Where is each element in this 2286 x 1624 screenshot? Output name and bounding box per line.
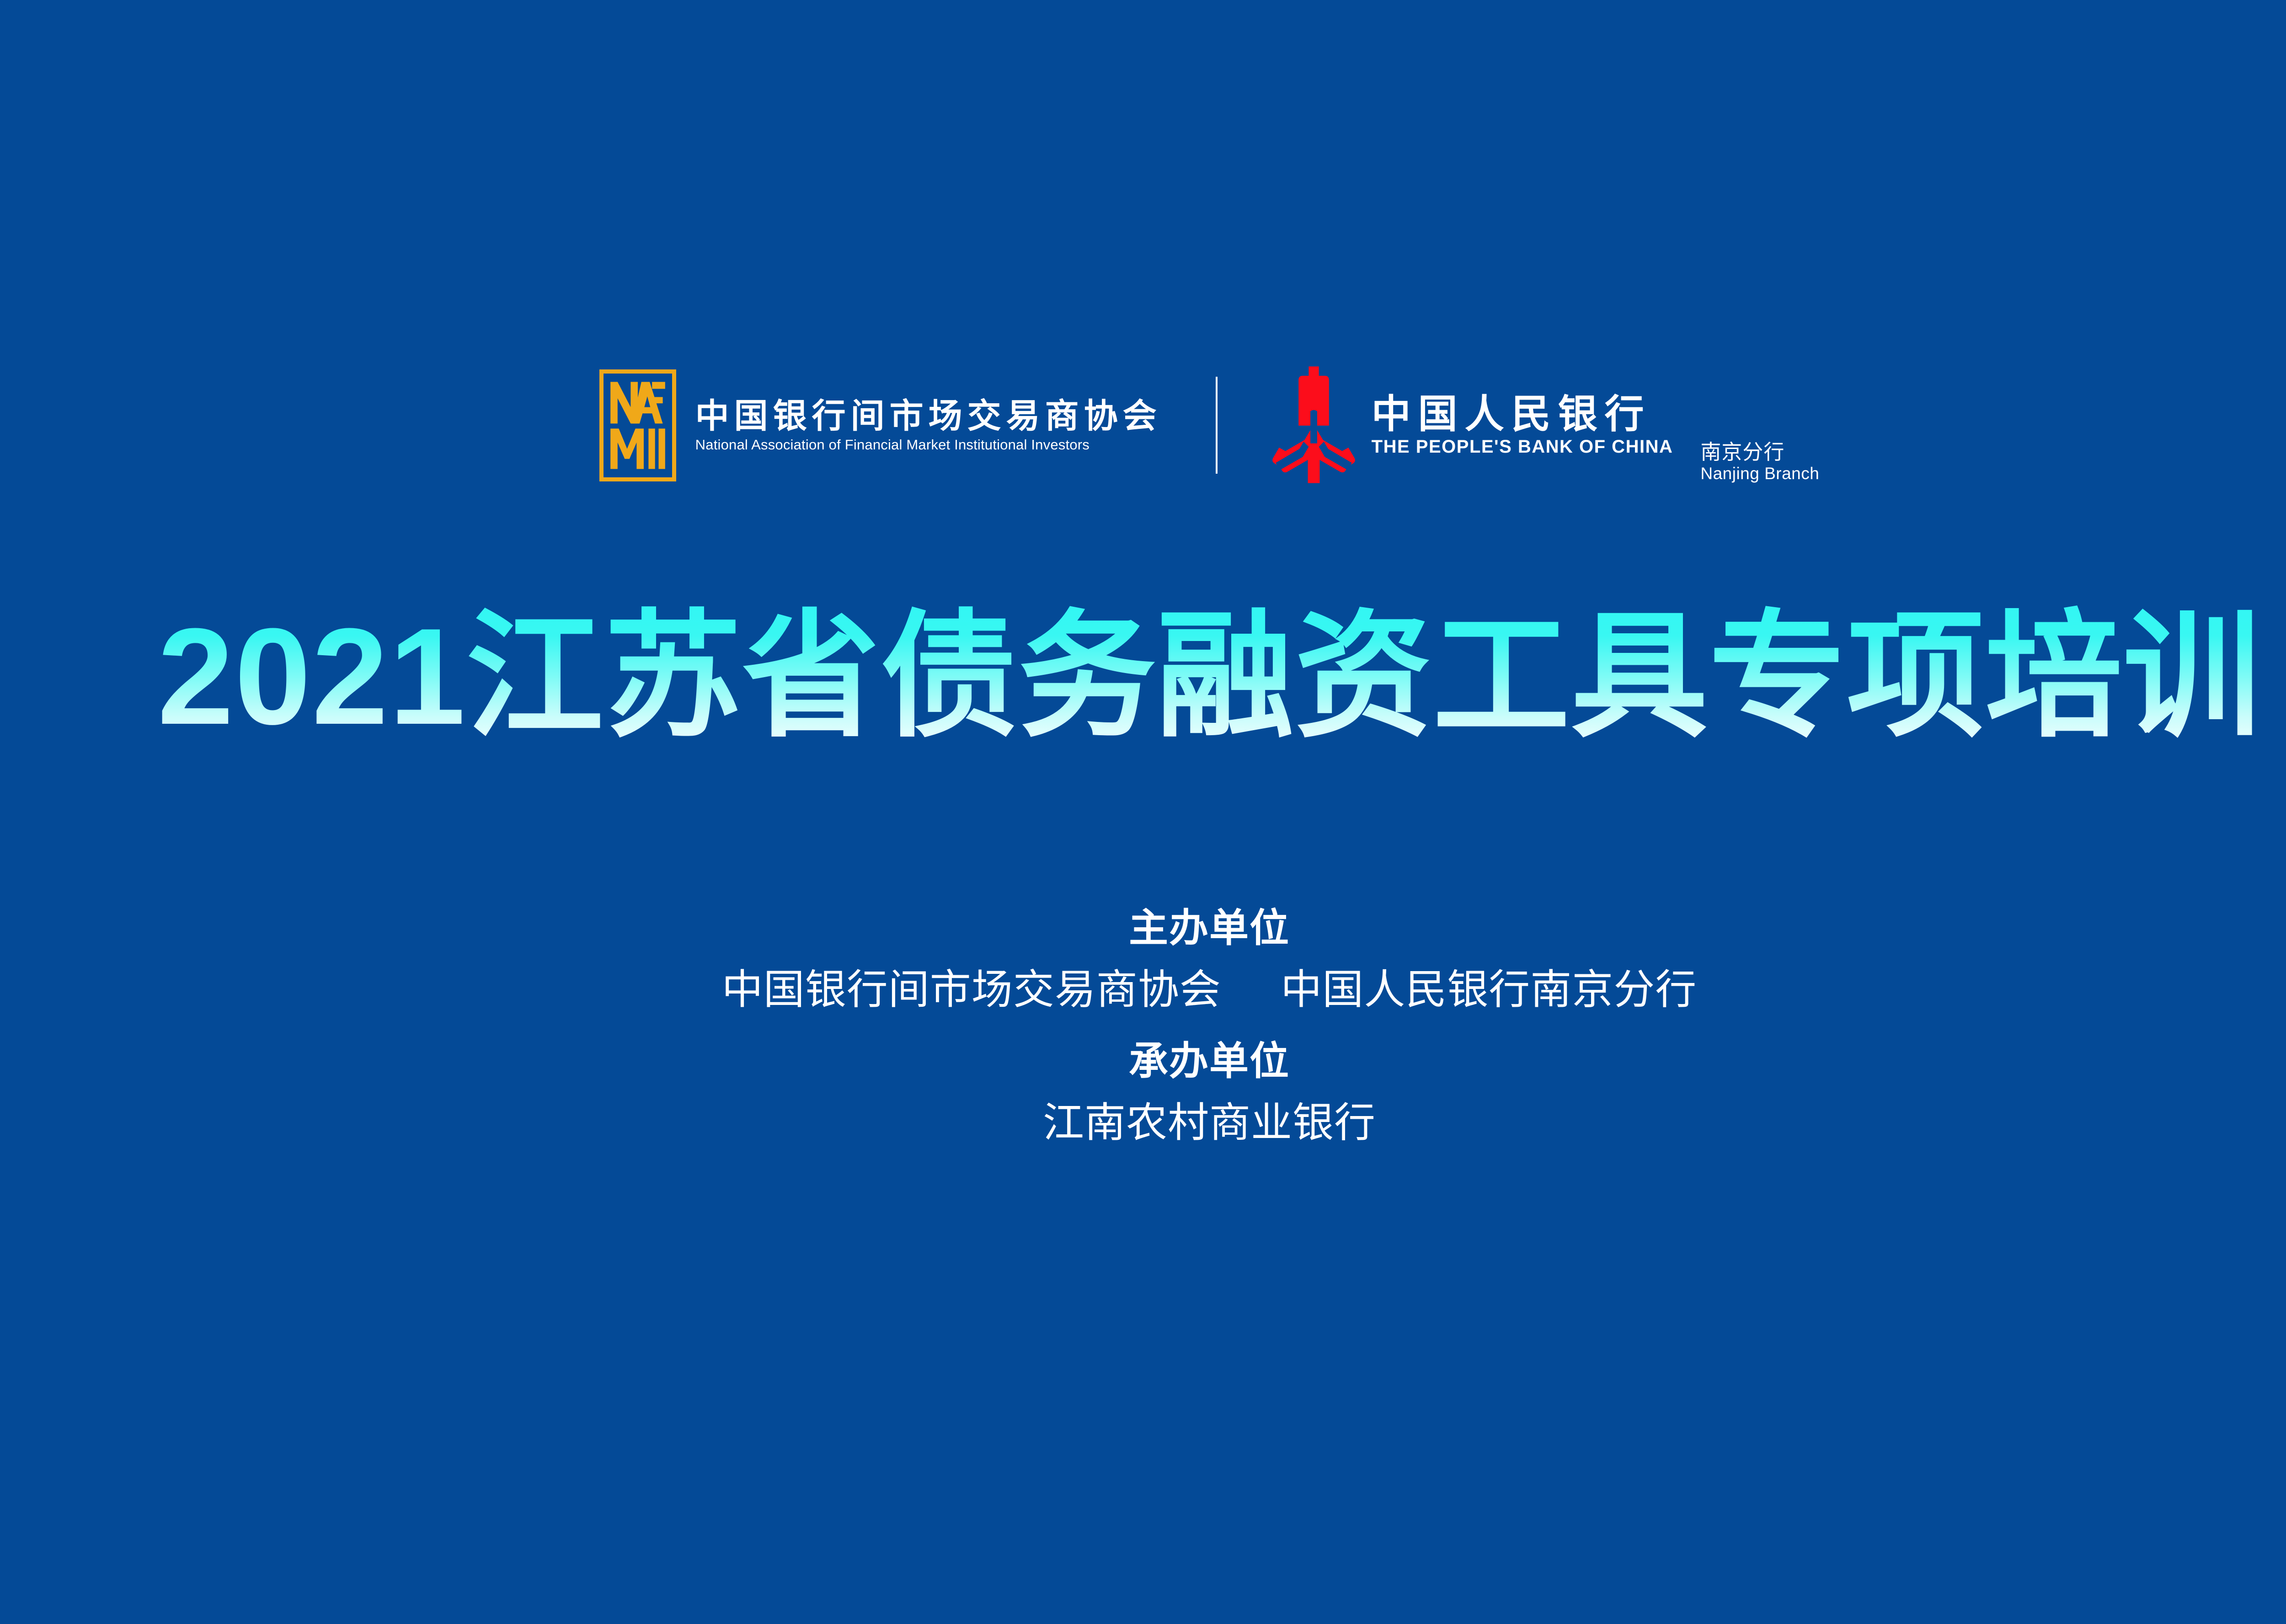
credits-spacer xyxy=(0,1086,2286,1096)
pboc-name-en: THE PEOPLE'S BANK OF CHINA xyxy=(1372,438,1673,456)
pboc-logo-lockup: 中国人民银行 THE PEOPLE'S BANK OF CHINA 南京分行 N… xyxy=(1271,364,1820,486)
credits-spacer xyxy=(0,953,2286,963)
organizer-organization: 江南农村商业银行 xyxy=(0,1096,2286,1150)
pboc-branch-block: 南京分行 Nanjing Branch xyxy=(1700,442,1819,482)
pboc-text-block: 中国人民银行 THE PEOPLE'S BANK OF CHINA xyxy=(1372,395,1673,456)
host-heading: 主办单位 xyxy=(0,903,2286,953)
host-org-2: 中国人民银行南京分行 xyxy=(1281,967,1697,1013)
pboc-branch-cn: 南京分行 xyxy=(1700,442,1819,462)
credits-block: 主办单位 中国银行间市场交易商协会中国人民银行南京分行 承办单位 江南农村商业银… xyxy=(0,903,2286,1150)
poster-title: 2021江苏省债务融资工具专项培训 xyxy=(0,593,2286,760)
organizer-heading: 承办单位 xyxy=(0,1036,2286,1086)
nafmii-name-cn: 中国银行间市场交易商协会 xyxy=(695,399,1162,433)
nafmii-logo-icon xyxy=(599,369,676,481)
nafmii-logo-lockup: 中国银行间市场交易商协会 National Association of Fin… xyxy=(599,369,1162,481)
credits-spacer xyxy=(0,1017,2286,1036)
nafmii-name-en: National Association of Financial Market… xyxy=(695,438,1162,452)
pboc-logo-icon xyxy=(1271,364,1356,486)
logo-divider xyxy=(1216,377,1218,474)
poster-canvas: 中国银行间市场交易商协会 National Association of Fin… xyxy=(0,0,2286,1624)
nafmii-text-block: 中国银行间市场交易商协会 National Association of Fin… xyxy=(695,399,1162,452)
host-organizations: 中国银行间市场交易商协会中国人民银行南京分行 xyxy=(0,963,2286,1017)
pboc-name-cn: 中国人民银行 xyxy=(1372,395,1673,434)
host-org-1: 中国银行间市场交易商协会 xyxy=(722,967,1221,1013)
pboc-branch-en: Nanjing Branch xyxy=(1700,465,1819,482)
logo-row: 中国银行间市场交易商协会 National Association of Fin… xyxy=(0,347,2286,503)
